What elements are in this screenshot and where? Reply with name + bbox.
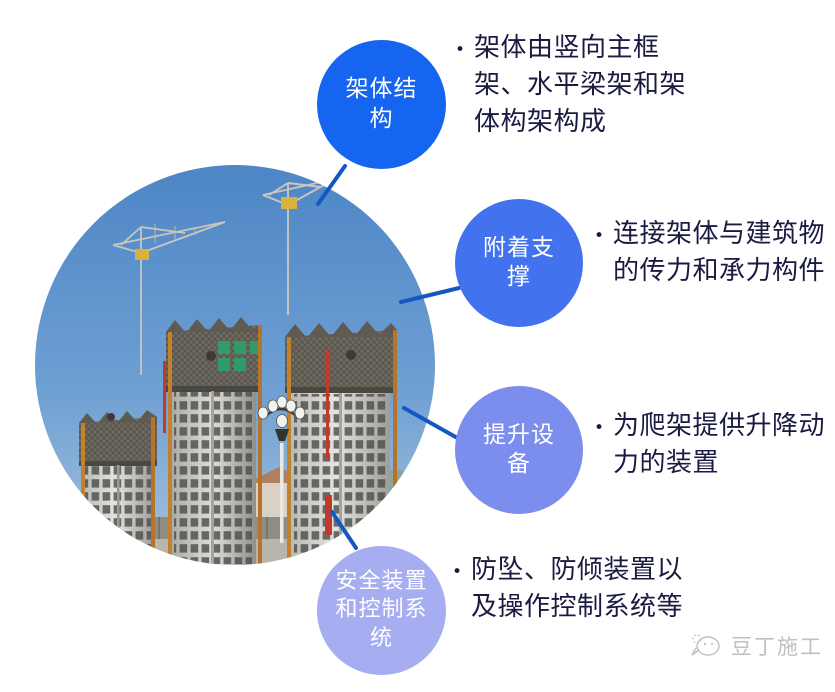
description-text: 为爬架提供升降动力的装置 <box>613 408 835 482</box>
node-label: 架体结构 <box>335 75 428 134</box>
watermark-text: 豆丁施工 <box>731 631 823 661</box>
watermark: 豆丁施工 <box>688 631 823 661</box>
description-text: 防坠、防倾装置以及操作控制系统等 <box>471 552 702 626</box>
speech-bubble-logo-icon <box>688 633 722 659</box>
node-circle-frame-structure[interactable]: 架体结构 <box>317 40 446 169</box>
description-safety-control-system: • 防坠、防倾装置以及操作控制系统等 <box>452 552 702 626</box>
node-label: 提升设备 <box>473 421 565 480</box>
bullet-icon: • <box>594 216 604 245</box>
description-lifting-equipment: • 为爬架提供升降动力的装置 <box>594 408 835 482</box>
description-text: 架体由竖向主框架、水平梁架和架体构架构成 <box>474 30 705 141</box>
slide-canvas: 架体结构 附着支撑 提升设备 安全装置和控制系统 • 架体由竖向主框架、水平梁架… <box>0 0 835 692</box>
node-circle-lifting-equipment[interactable]: 提升设备 <box>455 386 583 514</box>
bullet-icon: • <box>594 408 604 437</box>
bullet-icon: • <box>455 30 465 59</box>
node-circle-safety-control-system[interactable]: 安全装置和控制系统 <box>317 546 446 675</box>
description-attachment-support: • 连接架体与建筑物的传力和承力构件 <box>594 216 835 290</box>
bullet-icon: • <box>452 552 462 581</box>
construction-photo-image <box>35 165 435 565</box>
node-label: 附着支撑 <box>473 234 565 293</box>
description-frame-structure: • 架体由竖向主框架、水平梁架和架体构架构成 <box>455 30 705 141</box>
node-label: 安全装置和控制系统 <box>335 568 428 652</box>
description-text: 连接架体与建筑物的传力和承力构件 <box>613 216 835 290</box>
construction-photo <box>35 165 435 565</box>
node-circle-attachment-support[interactable]: 附着支撑 <box>455 199 583 327</box>
